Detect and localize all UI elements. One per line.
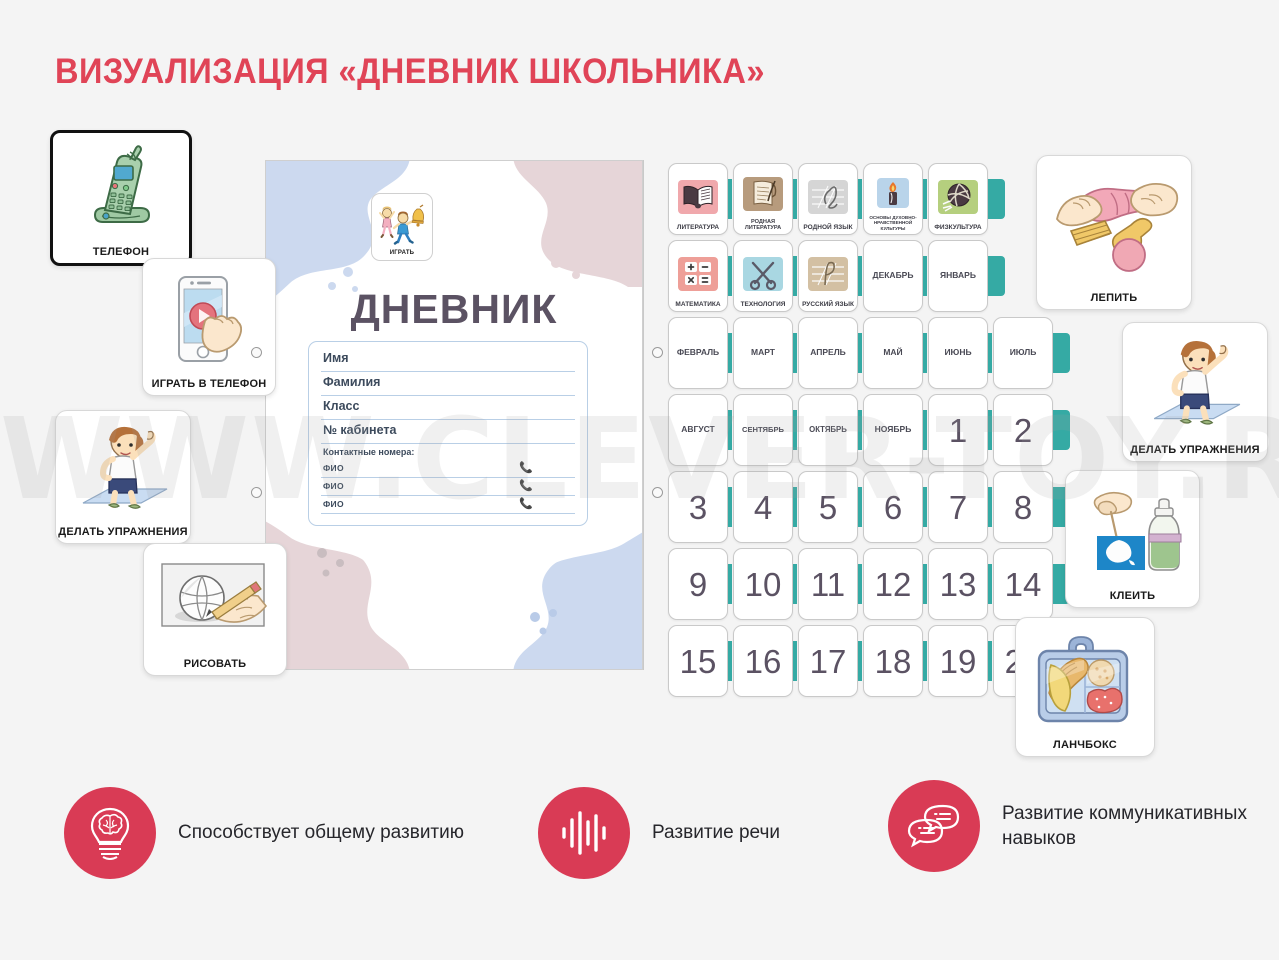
open-book-icon [678, 167, 718, 224]
number-card-3[interactable]: 3 [668, 471, 728, 543]
subject-card-literature[interactable]: ЛИТЕРАТУРА [668, 163, 728, 235]
month-card-july[interactable]: ИЮЛЬ [993, 317, 1053, 389]
number-card-19[interactable]: 19 [928, 625, 988, 697]
subject-label: ЛИТЕРАТУРА [671, 224, 725, 231]
benefit-icon-circle [538, 787, 630, 879]
subject-card-physical-education[interactable]: ФИЗКУЛЬТУРА [928, 163, 988, 235]
diary-play-card: ИГРАТЬ [371, 193, 433, 261]
month-label: ФЕВРАЛЬ [677, 348, 719, 357]
month-card-june[interactable]: ИЮНЬ [928, 317, 988, 389]
number-card-8[interactable]: 8 [993, 471, 1053, 543]
number-card-4[interactable]: 4 [733, 471, 793, 543]
number-card-6[interactable]: 6 [863, 471, 923, 543]
binder-ring [652, 487, 663, 498]
number-label: 3 [689, 491, 707, 524]
number-card-2[interactable]: 2 [993, 394, 1053, 466]
month-card-march[interactable]: МАРТ [733, 317, 793, 389]
field-surname[interactable]: Фамилия [321, 372, 575, 396]
number-label: 15 [680, 645, 717, 678]
number-label: 12 [875, 568, 912, 601]
subject-label: РОДНОЙ ЯЗЫК [801, 224, 855, 231]
subject-card-native-language[interactable]: РОДНОЙ ЯЗЫК [798, 163, 858, 235]
diary-title: ДНЕВНИК [266, 286, 642, 333]
number-label: 13 [940, 568, 977, 601]
sound-waveform-icon [559, 809, 609, 857]
page-title: ВИЗУАЛИЗАЦИЯ «ДНЕВНИК ШКОЛЬНИКА» [55, 52, 765, 92]
month-label: ОКТЯБРЬ [809, 426, 847, 435]
subject-card-spiritual-culture[interactable]: ОСНОВЫ ДУХОВНО-НРАВСТВЕННОЙ КУЛЬТУРЫ [863, 163, 923, 235]
card-label: ДЕЛАТЬ УПРАЖНЕНИЯ [1130, 444, 1259, 456]
boy-stretching-icon [60, 417, 186, 526]
diary-cover: ИГРАТЬ ДНЕВНИК Имя Фамилия Класс № кабин… [265, 160, 643, 670]
subject-label: ТЕХНОЛОГИЯ [736, 301, 790, 308]
month-card-april[interactable]: АПРЕЛЬ [798, 317, 858, 389]
number-label: 2 [1014, 414, 1032, 447]
number-card-5[interactable]: 5 [798, 471, 858, 543]
card-label: ИГРАТЬ В ТЕЛЕФОН [152, 378, 267, 390]
number-card-14[interactable]: 14 [993, 548, 1053, 620]
month-label: АВГУСТ [681, 425, 715, 434]
subject-label: РОДНАЯ ЛИТЕРАТУРА [736, 219, 790, 231]
candle-icon [877, 167, 909, 215]
subject-label: РУССКИЙ ЯЗЫК [801, 301, 855, 308]
boy-stretching-icon [1127, 329, 1263, 444]
month-card-may[interactable]: МАЙ [863, 317, 923, 389]
benefit-text: Развитие коммуникативных навыков [1002, 801, 1268, 851]
card-label: ТЕЛЕФОН [93, 246, 149, 258]
subject-label: ОСНОВЫ ДУХОВНО-НРАВСТВЕННОЙ КУЛЬТУРЫ [866, 215, 920, 231]
binder-ring [251, 347, 262, 358]
month-label: ИЮЛЬ [1010, 348, 1037, 357]
card-play-on-phone[interactable]: ИГРАТЬ В ТЕЛЕФОН [142, 258, 276, 396]
number-card-15[interactable]: 15 [668, 625, 728, 697]
phone-ring-icon: 📞 [519, 461, 533, 474]
benefit-icon-circle [888, 780, 980, 872]
number-label: 19 [940, 645, 977, 678]
scroll-quill-icon [743, 167, 783, 219]
number-label: 1 [949, 414, 967, 447]
card-do-exercises-left[interactable]: ДЕЛАТЬ УПРАЖНЕНИЯ [55, 410, 191, 544]
number-label: 11 [811, 568, 845, 601]
page-divider [643, 160, 644, 670]
contact-row[interactable]: ФИО 📞 [321, 478, 575, 496]
card-glue[interactable]: КЛЕИТЬ [1065, 470, 1200, 608]
card-lunchbox[interactable]: ЛАНЧБОКС [1015, 617, 1155, 757]
month-card-august[interactable]: АВГУСТ [668, 394, 728, 466]
card-telephone[interactable]: ТЕЛЕФОН [50, 130, 192, 266]
contacts-label: Контактные номера: [321, 444, 575, 460]
card-sculpt[interactable]: ЛЕПИТЬ [1036, 155, 1192, 310]
children-playing-bell-icon [375, 197, 429, 250]
lightbulb-brain-icon [85, 805, 135, 861]
benefit-general-development: Способствует общему развитию [64, 787, 484, 879]
month-label: НОЯБРЬ [875, 425, 912, 434]
contact-fio-label: ФИО [323, 481, 344, 491]
month-label: АПРЕЛЬ [810, 348, 846, 357]
month-label: ЯНВАРЬ [940, 271, 976, 280]
benefit-communication-skills: Развитие коммуникативных навыков [888, 780, 1268, 872]
decorative-blob-top-right [468, 160, 643, 290]
subject-card-technology[interactable]: ТЕХНОЛОГИЯ [733, 240, 793, 312]
subject-card-native-literature[interactable]: РОДНАЯ ЛИТЕРАТУРА [733, 163, 793, 235]
number-card-13[interactable]: 13 [928, 548, 988, 620]
number-card-10[interactable]: 10 [733, 548, 793, 620]
number-label: 17 [810, 645, 847, 678]
contact-row[interactable]: ФИО 📞 [321, 496, 575, 514]
phone-ring-icon: 📞 [519, 497, 533, 510]
field-room-number[interactable]: № кабинета [321, 420, 575, 444]
calculator-signs-icon [678, 244, 718, 301]
number-label: 4 [754, 491, 772, 524]
phone-ring-icon: 📞 [519, 479, 533, 492]
card-label: ДЕЛАТЬ УПРАЖНЕНИЯ [58, 526, 187, 538]
field-name[interactable]: Имя [321, 348, 575, 372]
cursive-letter-icon [808, 244, 848, 301]
diary-fields-box: Имя Фамилия Класс № кабинета Контактные … [308, 341, 588, 526]
month-card-september[interactable]: СЕНТЯБРЬ [733, 394, 793, 466]
month-label: МАРТ [751, 348, 775, 357]
number-card-16[interactable]: 16 [733, 625, 793, 697]
cursive-letter-icon [808, 167, 848, 224]
month-card-january[interactable]: ЯНВАРЬ [928, 240, 988, 312]
month-card-december[interactable]: ДЕКАБРЬ [863, 240, 923, 312]
contact-fio-label: ФИО [323, 463, 344, 473]
number-label: 8 [1014, 491, 1032, 524]
number-label: 18 [875, 645, 912, 678]
hands-modelling-clay-icon [1041, 162, 1187, 292]
number-card-18[interactable]: 18 [863, 625, 923, 697]
card-label: РИСОВАТЬ [184, 658, 247, 670]
play-card-label: ИГРАТЬ [390, 250, 414, 257]
contact-row[interactable]: ФИО 📞 [321, 460, 575, 478]
scissors-icon [743, 244, 783, 301]
card-label: КЛЕИТЬ [1110, 590, 1156, 602]
hand-tapping-smartphone-icon [147, 265, 271, 378]
subject-card-mathematics[interactable]: МАТЕМАТИКА [668, 240, 728, 312]
contact-fio-label: ФИО [323, 499, 344, 509]
month-card-february[interactable]: ФЕВРАЛЬ [668, 317, 728, 389]
number-label: 6 [884, 491, 902, 524]
number-label: 14 [1005, 568, 1042, 601]
number-card-17[interactable]: 17 [798, 625, 858, 697]
subject-card-russian-language[interactable]: РУССКИЙ ЯЗЫК [798, 240, 858, 312]
benefit-icon-circle [64, 787, 156, 879]
benefit-text: Способствует общему развитию [178, 820, 464, 845]
field-class[interactable]: Класс [321, 396, 575, 420]
month-label: СЕНТЯБРЬ [742, 426, 784, 434]
number-label: 7 [949, 491, 967, 524]
cordless-phone-icon [57, 139, 185, 246]
number-card-9[interactable]: 9 [668, 548, 728, 620]
number-card-11[interactable]: 11 [798, 548, 858, 620]
speech-bubbles-icon [907, 803, 961, 849]
number-card-1[interactable]: 1 [928, 394, 988, 466]
glue-bottle-icon [1070, 477, 1195, 590]
number-card-7[interactable]: 7 [928, 471, 988, 543]
volleyball-icon [938, 167, 978, 224]
number-label: 16 [745, 645, 782, 678]
card-label: ЛАНЧБОКС [1053, 739, 1117, 751]
binder-ring [251, 487, 262, 498]
benefit-speech-development: Развитие речи [538, 787, 868, 879]
number-card-12[interactable]: 12 [863, 548, 923, 620]
month-label: ДЕКАБРЬ [873, 271, 914, 280]
decorative-blob-bottom-right [473, 525, 643, 670]
binder-ring [652, 347, 663, 358]
month-card-november[interactable]: НОЯБРЬ [863, 394, 923, 466]
number-label: 9 [689, 568, 707, 601]
month-label: МАЙ [883, 348, 902, 357]
lunchbox-icon [1020, 624, 1150, 739]
subject-label: МАТЕМАТИКА [671, 301, 725, 308]
number-label: 5 [819, 491, 837, 524]
card-label: ЛЕПИТЬ [1091, 292, 1138, 304]
number-label: 10 [745, 568, 782, 601]
card-do-exercises-right[interactable]: ДЕЛАТЬ УПРАЖНЕНИЯ [1122, 322, 1268, 462]
month-label: ИЮНЬ [944, 348, 971, 357]
benefit-text: Развитие речи [652, 820, 780, 845]
subject-label: ФИЗКУЛЬТУРА [931, 224, 985, 231]
hand-drawing-ball-icon [148, 550, 282, 658]
card-draw[interactable]: РИСОВАТЬ [143, 543, 287, 676]
decorative-blob-bottom-left [265, 515, 430, 670]
month-card-october[interactable]: ОКТЯБРЬ [798, 394, 858, 466]
